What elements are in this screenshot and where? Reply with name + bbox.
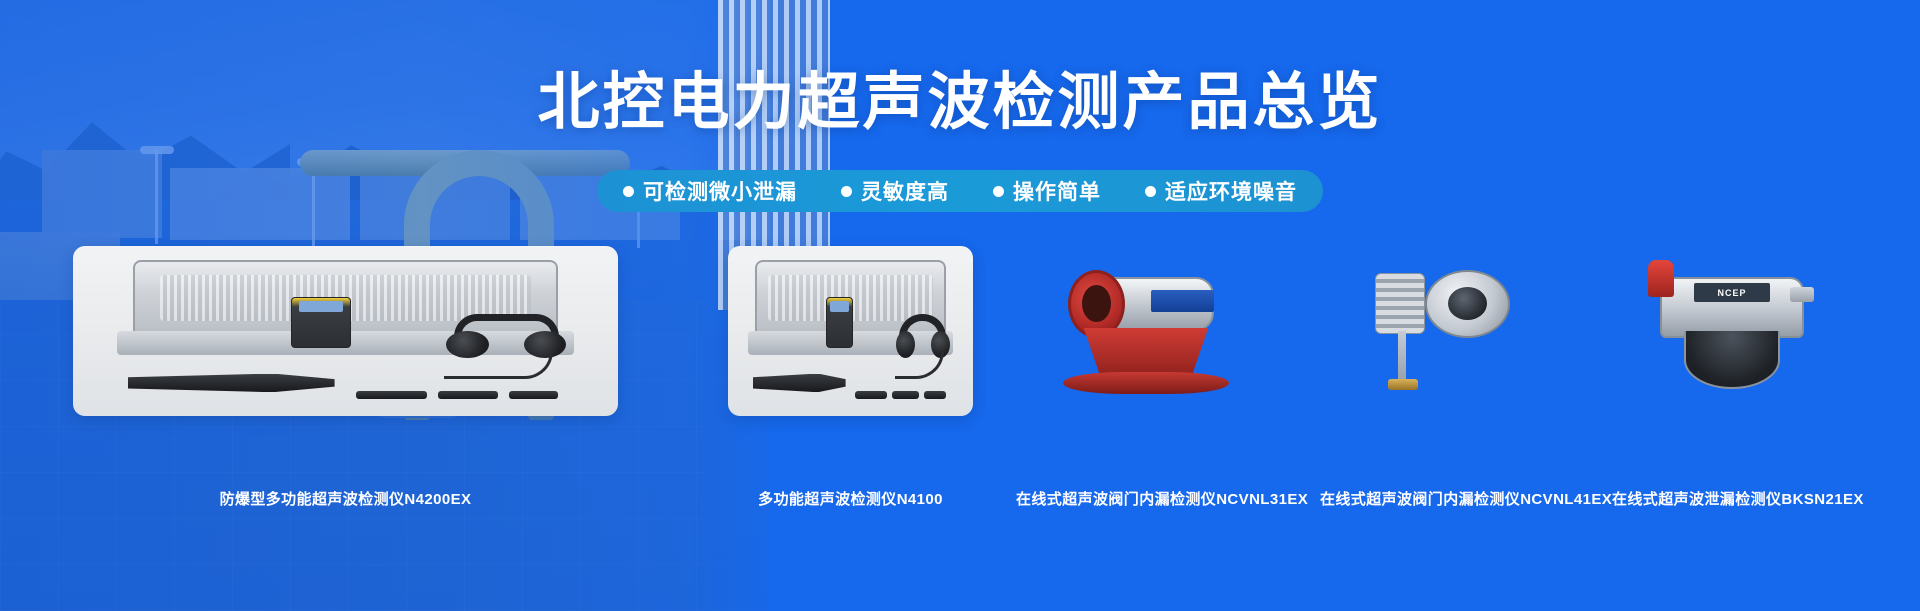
- feature-label-0: 可检测微小泄漏: [643, 176, 797, 206]
- feature-item-1: 灵敏度高: [841, 176, 949, 206]
- feature-label-3: 适应环境噪音: [1165, 176, 1297, 206]
- dot-bullet-icon: [1145, 186, 1156, 197]
- red-beacon-icon: [1648, 260, 1674, 297]
- sensor-stem: [1398, 331, 1407, 382]
- detector-dome-icon: [1684, 331, 1780, 389]
- product-image-0: [73, 246, 618, 416]
- monitor-red-mount: [1084, 328, 1209, 379]
- probe-accessory-1: [855, 391, 887, 400]
- feature-item-0: 可检测微小泄漏: [623, 176, 797, 206]
- product-list: 防爆型多功能超声波检测仪N4200EX: [0, 246, 1920, 476]
- product-card-2[interactable]: 在线式超声波阀门内漏检测仪NCVNL31EX: [1016, 246, 1276, 416]
- sensor-head-icon: [1425, 270, 1510, 338]
- product-card-4[interactable]: NCEP 在线式超声波泄漏检测仪BKSN21EX: [1612, 246, 1852, 416]
- sensor-brass-tip: [1388, 379, 1418, 391]
- headphone-cable: [444, 351, 553, 378]
- dot-bullet-icon: [623, 186, 634, 197]
- detector-arm: [1790, 287, 1814, 302]
- product-card-3[interactable]: 在线式超声波阀门内漏检测仪NCVNL41EX: [1320, 246, 1570, 416]
- product-image-1: [728, 246, 973, 416]
- product-caption-1: 多功能超声波检测仪N4100: [728, 488, 973, 509]
- product-image-3: [1320, 246, 1570, 416]
- dot-bullet-icon: [993, 186, 1004, 197]
- feature-pill: 可检测微小泄漏 灵敏度高 操作简单 适应环境噪音: [597, 170, 1323, 212]
- product-image-2: [1016, 246, 1276, 416]
- product-card-1[interactable]: 多功能超声波检测仪N4100: [728, 246, 973, 416]
- product-overview-banner: 北控电力超声波检测产品总览 可检测微小泄漏 灵敏度高 操作简单 适应环境噪音: [0, 0, 1920, 611]
- feature-label-2: 操作简单: [1013, 176, 1101, 206]
- sensor-finned-body-icon: [1375, 273, 1425, 334]
- feature-label-1: 灵敏度高: [861, 176, 949, 206]
- product-caption-3: 在线式超声波阀门内漏检测仪NCVNL41EX: [1320, 488, 1570, 509]
- page-title: 北控电力超声波检测产品总览: [0, 72, 1920, 134]
- probe-accessory-3: [509, 391, 558, 400]
- product-card-0[interactable]: 防爆型多功能超声波检测仪N4200EX: [73, 246, 618, 416]
- dot-bullet-icon: [841, 186, 852, 197]
- monitor-pipe-saddle: [1063, 372, 1229, 394]
- meter-screen: [830, 301, 849, 312]
- product-image-4: NCEP: [1612, 246, 1852, 416]
- handheld-meter-icon: [291, 297, 351, 348]
- handheld-meter-icon: [826, 297, 853, 348]
- feature-item-2: 操作简单: [993, 176, 1101, 206]
- probe-accessory-2: [892, 391, 919, 400]
- probe-accessory-1: [356, 391, 427, 400]
- headphone-cable: [895, 351, 944, 378]
- feature-pill-wrapper: 可检测微小泄漏 灵敏度高 操作简单 适应环境噪音: [0, 170, 1920, 212]
- meter-screen: [299, 301, 343, 312]
- ultrasonic-cone-probe-icon: [128, 374, 335, 393]
- feature-item-3: 适应环境噪音: [1145, 176, 1297, 206]
- ultrasonic-cone-probe-icon: [753, 374, 846, 393]
- product-caption-0: 防爆型多功能超声波检测仪N4200EX: [73, 488, 618, 509]
- monitor-brand-band: [1151, 290, 1213, 312]
- product-caption-2: 在线式超声波阀门内漏检测仪NCVNL31EX: [1016, 488, 1276, 509]
- brand-mark: NCEP: [1694, 283, 1771, 302]
- probe-accessory-2: [438, 391, 498, 400]
- product-caption-4: 在线式超声波泄漏检测仪BKSN21EX: [1612, 488, 1852, 509]
- probe-accessory-3: [924, 391, 946, 400]
